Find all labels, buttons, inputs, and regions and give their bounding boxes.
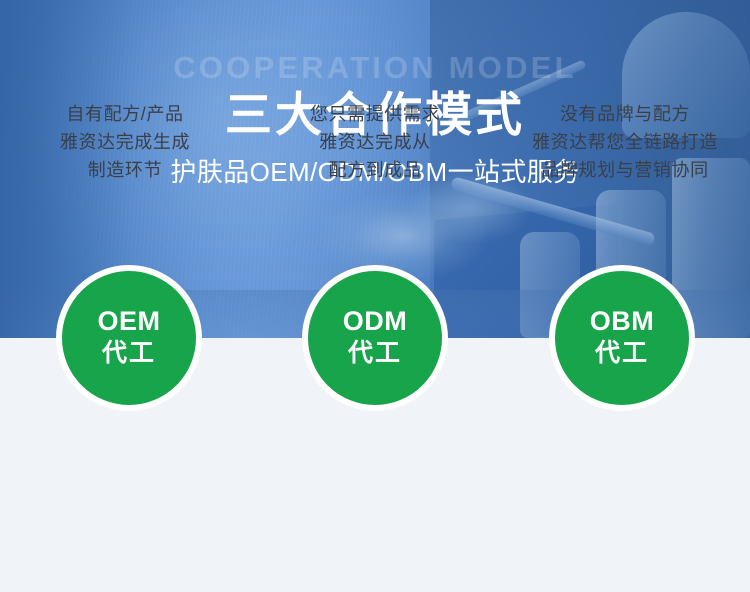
model-badge-code: ODM — [343, 307, 408, 335]
description-line: 您只需提供需求 — [256, 100, 494, 128]
model-badge-label: 代工 — [102, 338, 156, 369]
model-description-obm: 没有品牌与配方 雅资达帮您全链路打造 品牌规划与营销协同 — [500, 100, 750, 184]
description-line: 雅资达完成生成 — [6, 128, 244, 156]
model-badge-odm[interactable]: ODM 代工 — [302, 265, 448, 411]
model-badge-code: OEM — [97, 307, 160, 335]
model-badge-oem[interactable]: OEM 代工 — [56, 265, 202, 411]
description-line: 自有配方/产品 — [6, 100, 244, 128]
model-description-odm: 您只需提供需求 雅资达完成从 配方到成品 — [250, 100, 500, 184]
model-badge-label: 代工 — [595, 338, 649, 369]
description-line: 没有品牌与配方 — [506, 100, 744, 128]
model-badge-obm[interactable]: OBM 代工 — [549, 265, 695, 411]
model-badge-code: OBM — [590, 307, 655, 335]
description-line: 制造环节 — [6, 156, 244, 184]
description-line: 配方到成品 — [256, 156, 494, 184]
description-line: 雅资达帮您全链路打造 — [506, 128, 744, 156]
model-description-oem: 自有配方/产品 雅资达完成生成 制造环节 — [0, 100, 250, 184]
description-line: 雅资达完成从 — [256, 128, 494, 156]
model-description-columns: 自有配方/产品 雅资达完成生成 制造环节 您只需提供需求 雅资达完成从 配方到成… — [0, 100, 750, 184]
model-badge-label: 代工 — [348, 338, 402, 369]
cooperation-model-page: COOPERATION MODEL 三大合作模式 护肤品OEM/ODM/OBM一… — [0, 0, 750, 592]
description-line: 品牌规划与营销协同 — [506, 156, 744, 184]
